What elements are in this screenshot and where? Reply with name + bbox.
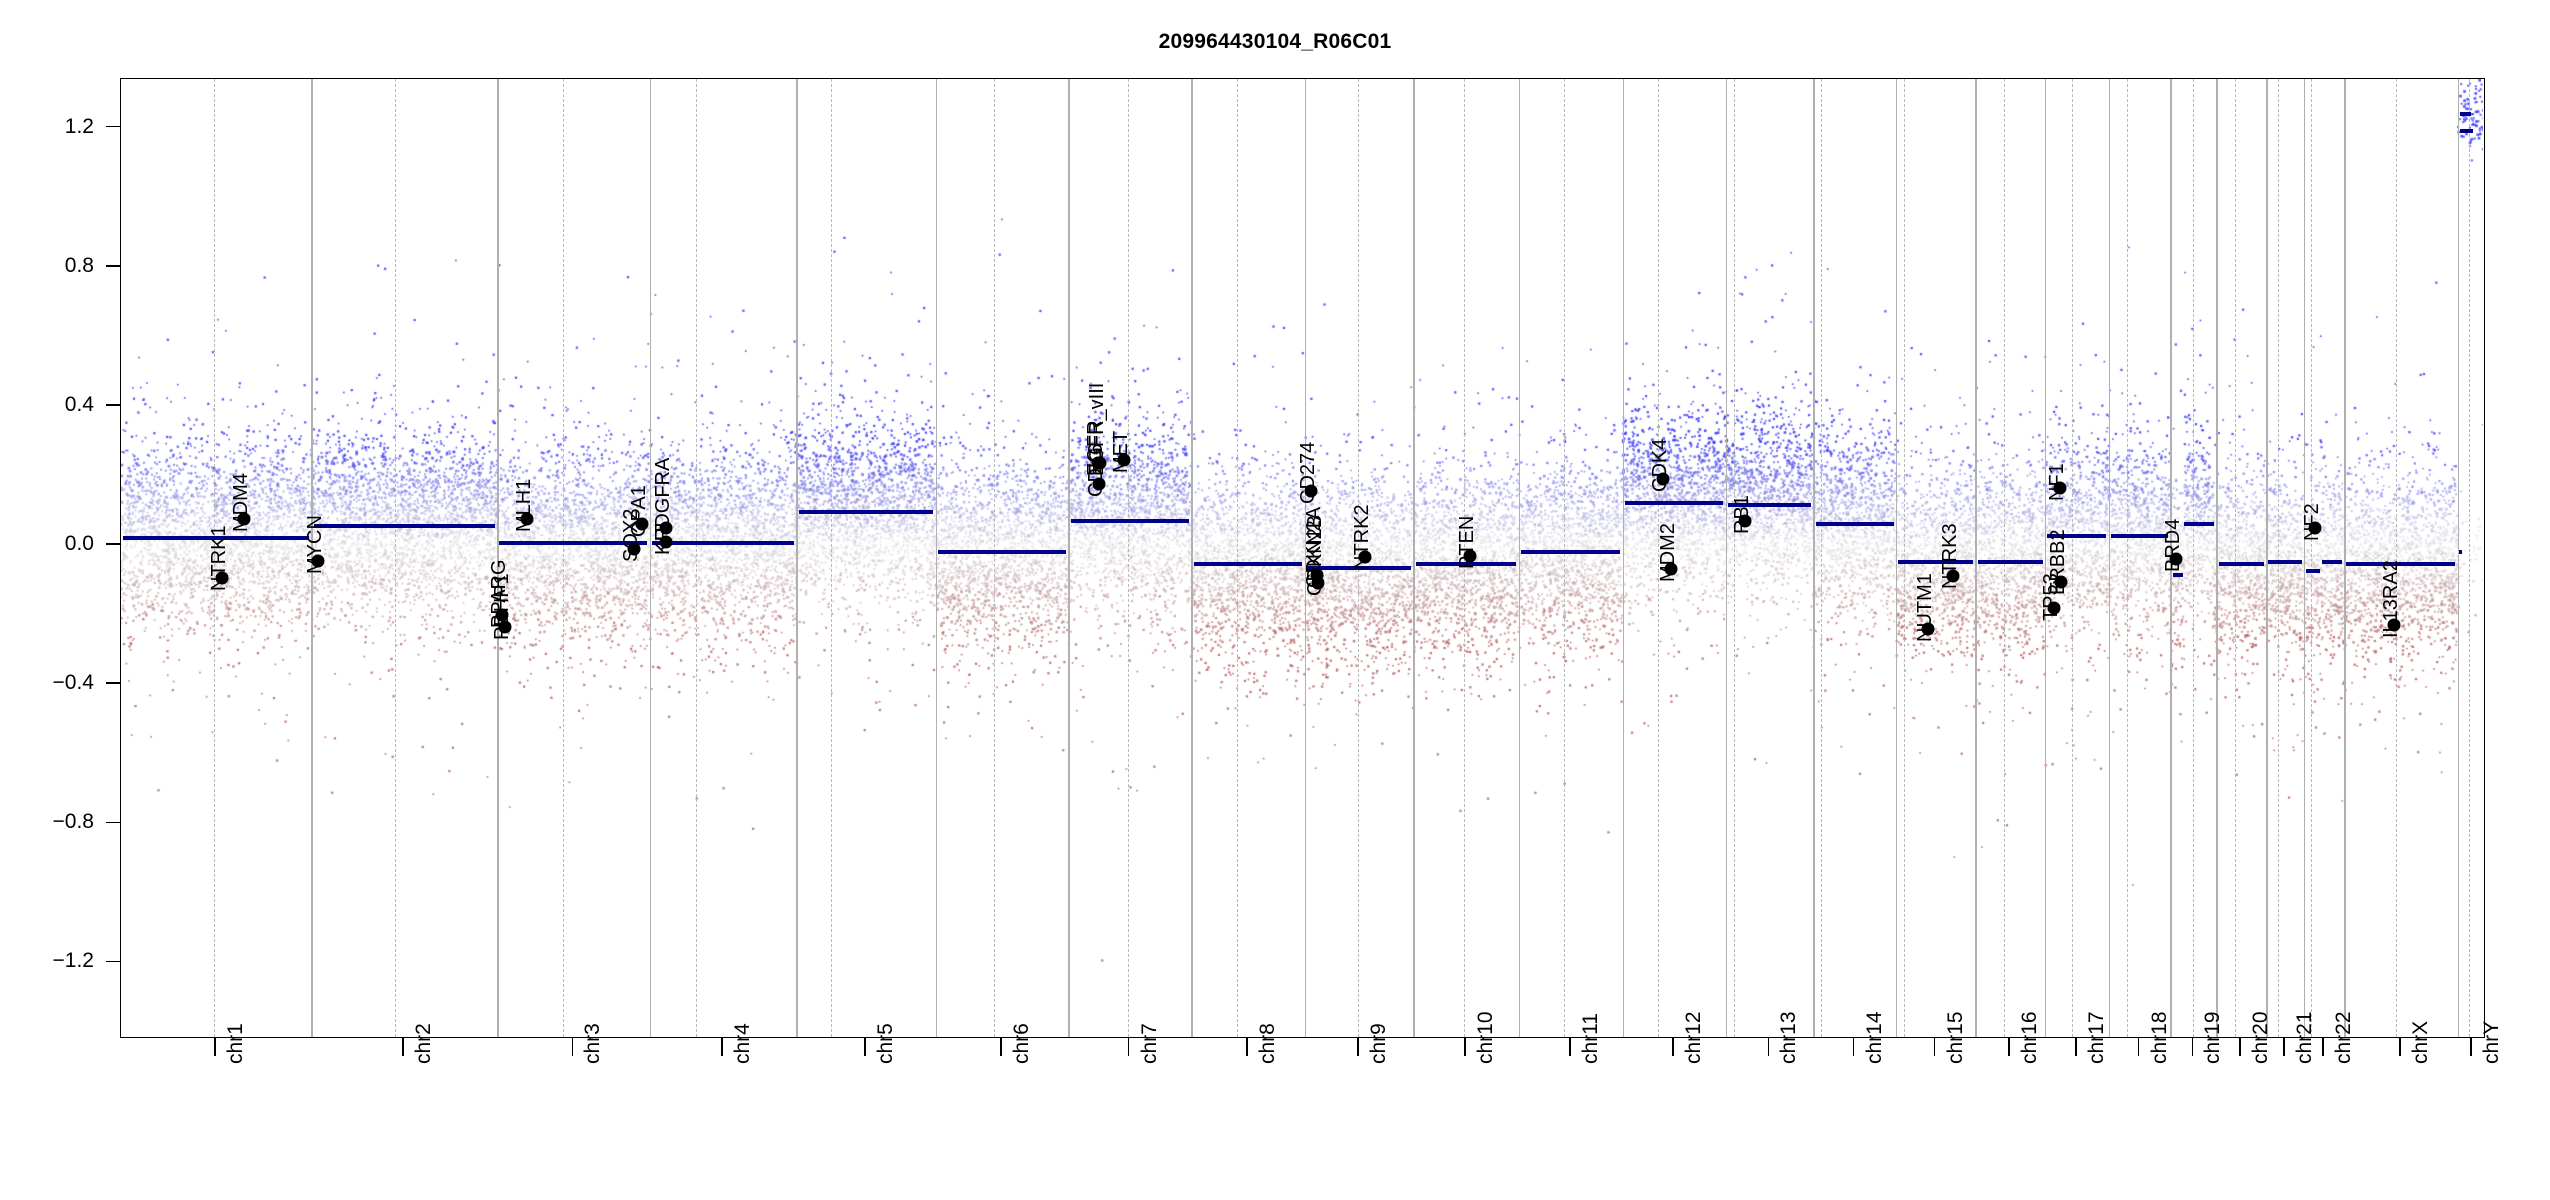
centromere-line-chr18 [2127,79,2128,1037]
centromere-line-chr5 [831,79,832,1037]
chromosome-label-chr3: chr3 [581,1023,605,1064]
x-tick-chr1 [214,1038,216,1056]
centromere-line-chrY [2469,79,2470,1037]
y-tick-label-5: −0.8 [0,810,94,834]
segment-mean-chr22-0 [2306,569,2320,573]
chromosome-label-chr20: chr20 [2249,1011,2273,1064]
gene-label-PTEN: PTEN [1456,515,1479,568]
gene-label-NF2: NF2 [2301,503,2324,541]
gene-label-MDM2: MDM2 [1657,524,1680,583]
gene-label-MET: MET [1110,431,1133,473]
segment-mean-chr6-0 [938,550,1066,554]
gene-label-ERBB2: ERBB2 [2047,529,2070,595]
chromosome-separator-chr22 [2304,79,2306,1037]
gene-label-PDHP1: PDHP1 [491,573,514,640]
centromere-line-chr21 [2278,79,2279,1037]
gene-label-RB1: RB1 [1731,495,1754,534]
y-tick-6 [106,961,120,963]
chromosome-label-chr5: chr5 [874,1023,898,1064]
plot-area: NTRK1MDM4MYCNPPARGPDHP1MLH1SOX2OPA1KITPD… [120,78,2485,1038]
x-tick-chr3 [572,1038,574,1056]
chromosome-separator-chr11 [1519,79,1521,1037]
gene-label-MDM4: MDM4 [230,473,253,532]
centromere-line-chr7 [1128,79,1129,1037]
gene-label-NF1: NF1 [2046,463,2069,501]
centromere-line-chr16 [2004,79,2005,1037]
segment-mean-chr19-1 [2184,522,2214,526]
segment-mean-chr19-0 [2173,573,2184,577]
gene-label-NUTM1: NUTM1 [1914,573,1937,642]
scatter-canvas [121,79,2483,1036]
chromosome-label-chr6: chr6 [1010,1023,1034,1064]
chromosome-label-chr14: chr14 [1863,1011,1887,1064]
centromere-line-chr4 [696,79,697,1037]
chromosome-label-chr19: chr19 [2201,1011,2225,1064]
x-tick-chr4 [721,1038,723,1056]
chromosome-label-chr4: chr4 [731,1023,755,1064]
y-tick-2 [106,404,120,406]
gene-label-CDKN2B: CDKN2B [1304,515,1327,596]
x-tick-chrY [2470,1038,2472,1056]
chromosome-label-chr13: chr13 [1777,1011,1801,1064]
gene-label-EGFR_vIII: EGFR_vIII [1086,383,1109,476]
chromosome-label-chr11: chr11 [1579,1013,1603,1064]
chromosome-label-chr16: chr16 [2018,1011,2042,1064]
x-tick-chr11 [1569,1038,1571,1056]
x-tick-chr18 [2138,1038,2140,1056]
centromere-line-chrX [2396,79,2397,1037]
chromosome-separator-chr21 [2266,79,2268,1037]
x-tick-chr16 [2008,1038,2010,1056]
x-tick-chr10 [1464,1038,1466,1056]
chromosome-label-chr12: chr12 [1682,1011,1706,1064]
gene-label-CD274: CD274 [1297,442,1320,504]
gene-label-NTRK3: NTRK3 [1939,524,1962,590]
segment-mean-chr2-0 [314,524,495,528]
chromosome-label-chr1: chr1 [224,1023,248,1064]
x-tick-chr14 [1853,1038,1855,1056]
gene-label-NTRK1: NTRK1 [208,526,231,592]
centromere-line-chr2 [395,79,396,1037]
segment-mean-chr8-0 [1194,562,1303,566]
gene-label-IL13RA2: IL13RA2 [2380,560,2403,638]
centromere-line-chr3 [563,79,564,1037]
chromosome-separator-chr10 [1413,79,1415,1037]
chromosome-label-chr2: chr2 [412,1023,436,1064]
segment-mean-chrY-1 [2460,129,2473,133]
segment-mean-chrY-0 [2460,112,2471,116]
chromosome-separator-chr6 [936,79,938,1037]
y-tick-label-3: 0.0 [0,532,94,556]
copy-number-plot: 209964430104_R06C01 NTRK1MDM4MYCNPPARGPD… [0,0,2550,1200]
y-tick-4 [106,682,120,684]
segment-mean-chrY-2 [2459,550,2463,554]
chromosome-label-chr7: chr7 [1138,1023,1162,1064]
segment-mean-chr18-0 [2111,534,2168,538]
gene-label-BRD4: BRD4 [2162,519,2185,572]
centromere-line-chr14 [1821,79,1822,1037]
segment-mean-chr11-0 [1521,550,1620,554]
chromosome-label-chrY: chrY [2480,1021,2504,1064]
centromere-line-chr13 [1734,79,1735,1037]
x-tick-chr7 [1128,1038,1130,1056]
page-title: 209964430104_R06C01 [0,30,2550,54]
centromere-line-chr20 [2235,79,2236,1037]
x-tick-chr17 [2075,1038,2077,1056]
gene-label-NTRK2: NTRK2 [1351,505,1374,571]
segment-mean-chr14-0 [1816,522,1894,526]
x-tick-chr8 [1246,1038,1248,1056]
chromosome-separator-chr3 [497,79,499,1037]
x-tick-chr19 [2192,1038,2194,1056]
chromosome-separator-chr16 [1975,79,1977,1037]
centromere-line-chr8 [1237,79,1238,1037]
centromere-line-chr17 [2072,79,2073,1037]
x-tick-chr15 [1934,1038,1936,1056]
segment-mean-chr12-0 [1625,501,1723,505]
segment-mean-chr5-0 [799,510,934,514]
y-tick-label-6: −1.2 [0,949,94,973]
y-tick-3 [106,543,120,545]
x-tick-chr21 [2283,1038,2285,1056]
segment-mean-chr21-0 [2268,560,2301,564]
chromosome-label-chr10: chr10 [1474,1011,1498,1064]
x-tick-chr2 [402,1038,404,1056]
centromere-line-chr6 [994,79,995,1037]
chromosome-separator-chr14 [1813,79,1815,1037]
chromosome-label-chr18: chr18 [2148,1011,2172,1064]
gene-label-MLH1: MLH1 [513,479,536,532]
chromosome-separator-chr20 [2216,79,2218,1037]
segment-mean-chr7-0 [1071,519,1189,523]
x-tick-chr12 [1672,1038,1674,1056]
chromosome-label-chr15: chr15 [1944,1011,1968,1064]
chromosome-label-chr8: chr8 [1256,1023,1280,1064]
segment-mean-chr16-0 [1978,560,2043,564]
y-tick-label-2: 0.4 [0,393,94,417]
gene-label-PDGFRA: PDGFRA [652,457,675,540]
segment-mean-chr22-1 [2322,560,2342,564]
x-tick-chr6 [1000,1038,1002,1056]
chromosome-label-chrX: chrX [2409,1021,2433,1064]
x-tick-chrX [2399,1038,2401,1056]
segment-mean-chr20-0 [2219,562,2264,566]
chromosome-separator-chr12 [1623,79,1625,1037]
chromosome-label-chr9: chr9 [1367,1023,1391,1064]
chromosome-separator-chr7 [1068,79,1070,1037]
centromere-line-chr11 [1564,79,1565,1037]
chromosome-label-chr21: chr21 [2293,1011,2317,1064]
y-tick-label-1: 0.8 [0,254,94,278]
gene-label-CDK4: CDK4 [1649,439,1672,492]
chromosome-separator-chrX [2344,79,2346,1037]
gene-label-MYCN: MYCN [304,515,327,574]
gene-label-OPA1: OPA1 [628,485,651,537]
centromere-line-chr22 [2311,79,2312,1037]
chromosome-label-chr17: chr17 [2085,1011,2109,1064]
chromosome-label-chr22: chr22 [2332,1011,2356,1064]
x-tick-chr20 [2239,1038,2241,1056]
centromere-line-chr15 [1904,79,1905,1037]
chromosome-separator-chrY [2458,79,2460,1037]
chromosome-separator-chr4 [650,79,652,1037]
centromere-line-chr19 [2193,79,2194,1037]
x-tick-chr5 [864,1038,866,1056]
y-tick-label-4: −0.4 [0,671,94,695]
chromosome-separator-chr13 [1726,79,1728,1037]
chromosome-separator-chr8 [1191,79,1193,1037]
y-tick-label-0: 1.2 [0,115,94,139]
y-tick-0 [106,126,120,128]
chromosome-separator-chr18 [2109,79,2111,1037]
y-tick-5 [106,822,120,824]
x-tick-chr22 [2322,1038,2324,1056]
chromosome-separator-chr5 [796,79,798,1037]
x-tick-chr9 [1357,1038,1359,1056]
chromosome-separator-chr15 [1896,79,1898,1037]
x-tick-chr13 [1768,1038,1770,1056]
y-tick-1 [106,265,120,267]
